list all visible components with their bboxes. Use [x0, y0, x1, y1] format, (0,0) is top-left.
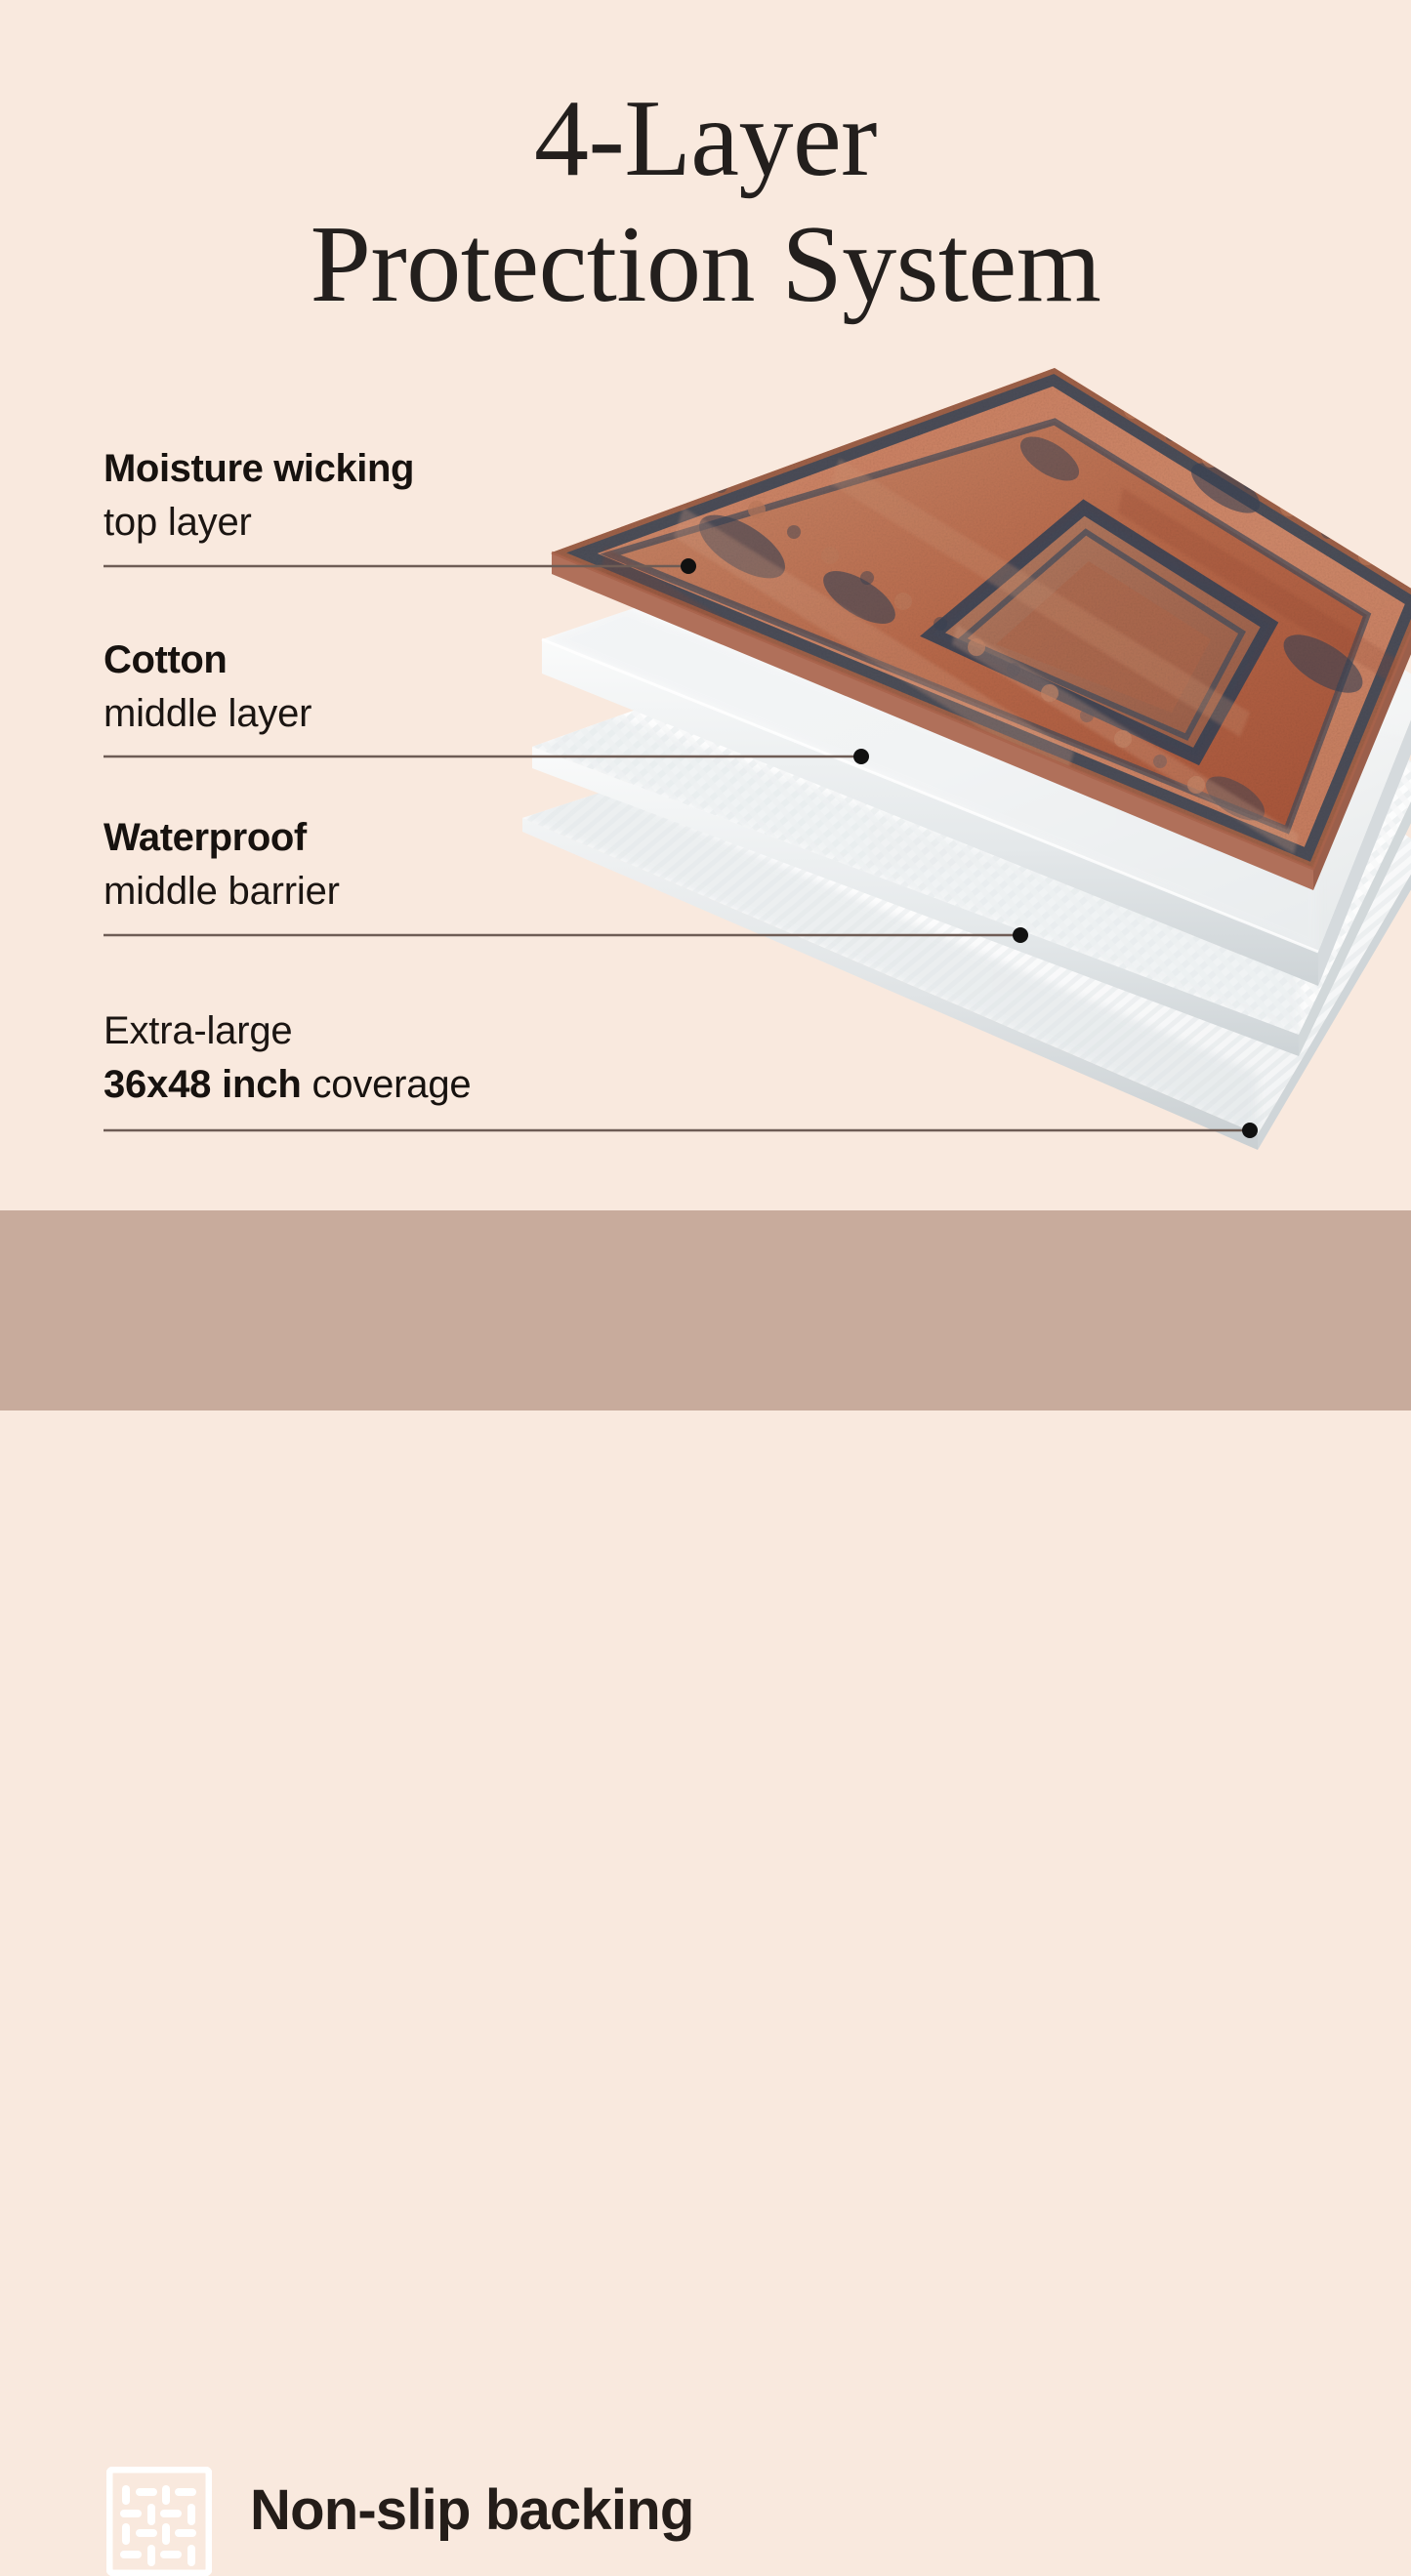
layer-label-cotton: Cotton middle layer	[104, 640, 311, 733]
layer-1-rug-shape	[527, 351, 1411, 898]
basket-weave-icon	[106, 2467, 212, 2576]
size-line-2: 36x48 inch coverage	[104, 1065, 471, 1104]
footer-bar: Non-slip backing	[0, 1210, 1411, 1411]
leader-dots	[681, 558, 1258, 1138]
layer-label-waterproof: Waterproof middle barrier	[104, 818, 340, 911]
leader-dot-4	[1242, 1123, 1258, 1138]
layer-2-heading: Cotton	[104, 640, 311, 679]
layer-3-subtext: middle barrier	[104, 872, 340, 911]
layer-3-shape	[488, 508, 1411, 1093]
title-line-1: 4-Layer	[0, 76, 1411, 202]
layer-1-subtext: top layer	[104, 503, 414, 542]
title-line-2: Protection System	[0, 202, 1411, 328]
infographic-page: 4-Layer Protection System	[0, 0, 1411, 1411]
size-line-1: Extra-large	[104, 1011, 471, 1050]
footer-label: Non-slip backing	[250, 2482, 693, 2539]
page-title: 4-Layer Protection System	[0, 76, 1411, 328]
layer-label-moisture-wicking: Moisture wicking top layer	[104, 449, 414, 542]
layer-2-shape	[542, 459, 1411, 986]
layer-4-shape	[488, 586, 1411, 1171]
layer-1-heading: Moisture wicking	[104, 449, 414, 488]
leader-dot-1	[681, 558, 696, 574]
size-coverage-suffix: coverage	[302, 1063, 472, 1106]
layer-3-heading: Waterproof	[104, 818, 340, 857]
leader-dot-3	[1013, 927, 1028, 943]
layer-2-subtext: middle layer	[104, 694, 311, 733]
size-callout: Extra-large 36x48 inch coverage	[104, 1011, 471, 1104]
size-measurement: 36x48 inch	[104, 1063, 302, 1106]
leader-dot-2	[853, 749, 869, 764]
